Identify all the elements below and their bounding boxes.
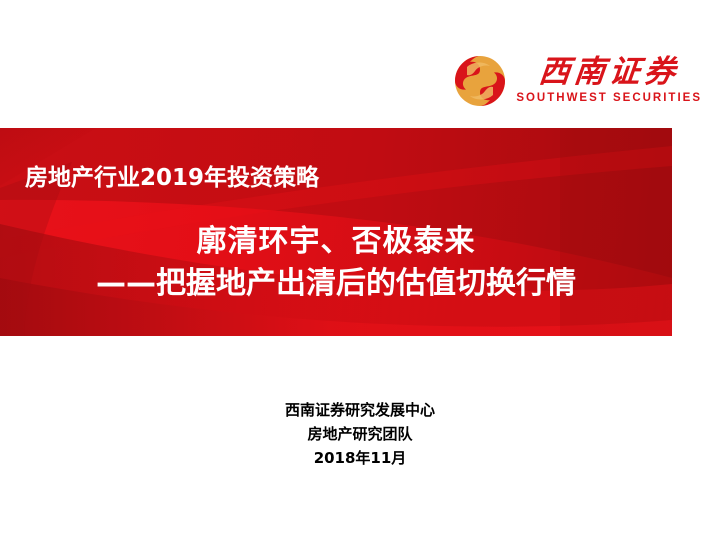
logo-circle-swirl-icon: [454, 55, 506, 107]
banner-text-layer: 房地产行业2019年投资策略 廓清环宇、否极泰来 ——把握地产出清后的估值切换行…: [0, 128, 672, 336]
logo-company-name-en: SOUTHWEST SECURITIES: [516, 93, 702, 105]
credits-team: 房地产研究团队: [0, 422, 720, 446]
logo-company-name-cn: 西南证券: [538, 57, 681, 88]
company-logo: 西南证券 SOUTHWEST SECURITIES: [454, 55, 702, 107]
banner-kicker: 房地产行业2019年投资策略: [25, 158, 319, 192]
title-slide: 西南证券 SOUTHWEST SECURITIES: [0, 0, 720, 540]
credits-block: 西南证券研究发展中心 房地产研究团队 2018年11月: [0, 398, 720, 470]
logo-wordmark: 西南证券 SOUTHWEST SECURITIES: [516, 57, 702, 105]
banner-headline: 廓清环宇、否极泰来: [0, 216, 672, 260]
banner-subheadline: ——把握地产出清后的估值切换行情: [0, 258, 672, 302]
credits-date: 2018年11月: [0, 446, 720, 470]
credits-organization: 西南证券研究发展中心: [0, 398, 720, 422]
